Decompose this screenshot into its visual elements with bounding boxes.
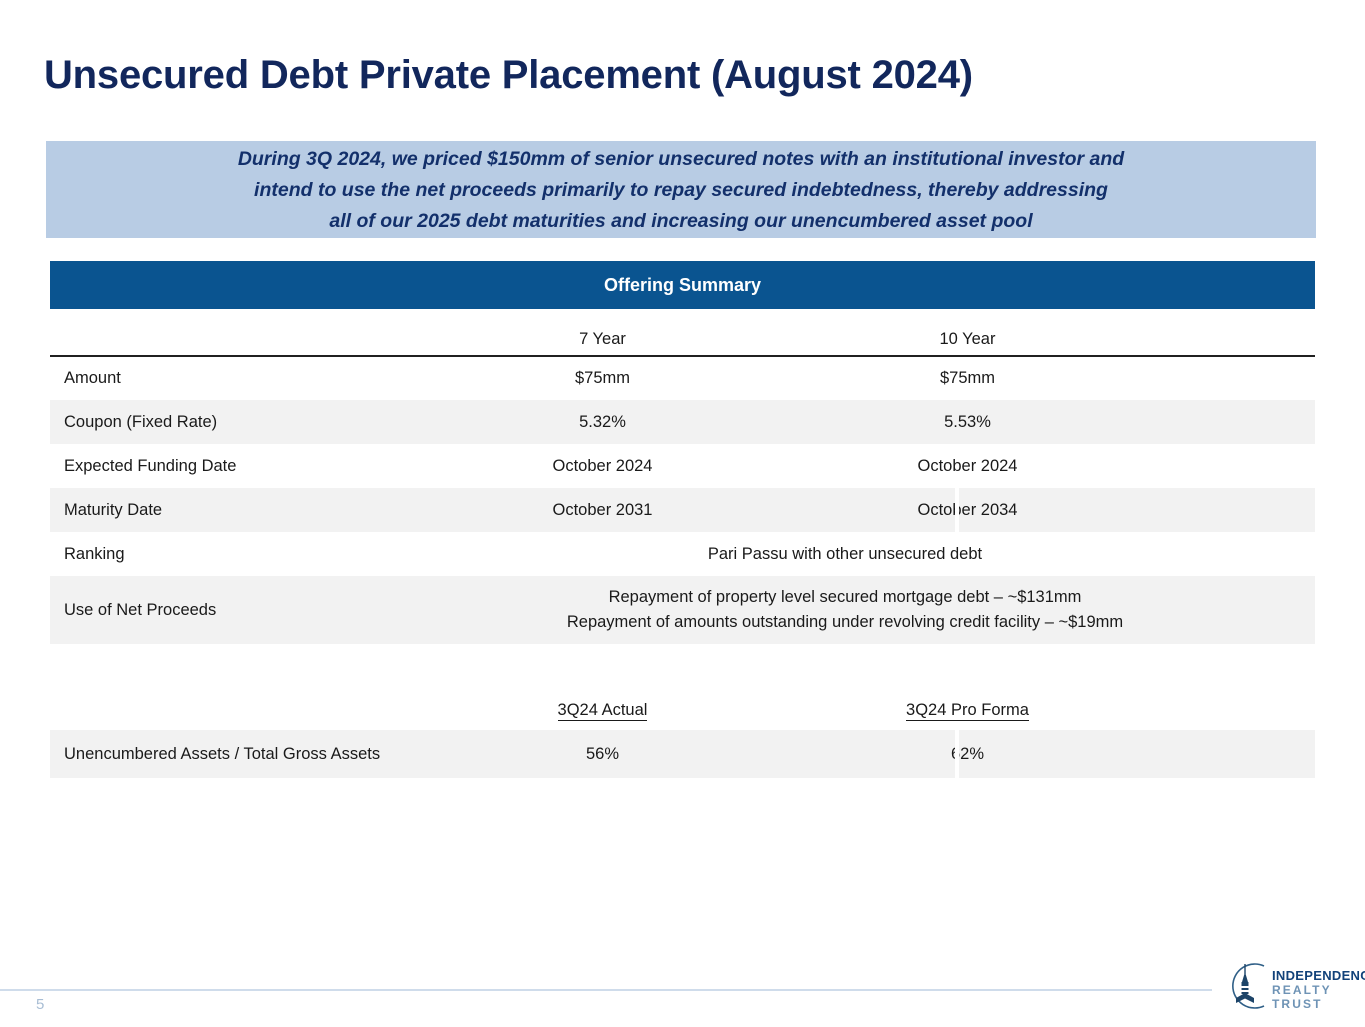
row-label: Use of Net Proceeds <box>50 601 385 620</box>
company-logo: INDEPENDENCE REALTY TRUST <box>1220 960 1350 1012</box>
row-value-10-year: October 2024 <box>785 457 1150 476</box>
table-row: Coupon (Fixed Rate) 5.32% 5.53% <box>50 400 1315 444</box>
logo-wordmark: INDEPENDENCE REALTY TRUST <box>1272 969 1365 1011</box>
column-divider <box>955 488 959 532</box>
row-label: Coupon (Fixed Rate) <box>50 413 385 432</box>
highlight-banner: During 3Q 2024, we priced $150mm of seni… <box>46 141 1316 238</box>
metrics-value-actual: 56% <box>420 745 785 764</box>
table-row: Ranking Pari Passu with other unsecured … <box>50 532 1315 576</box>
footer-divider <box>0 989 1212 991</box>
metrics-header-pro-forma-label: 3Q24 Pro Forma <box>906 701 1029 721</box>
offering-summary-table: 7 Year 10 Year Amount $75mm $75mm Coupon… <box>50 322 1315 644</box>
row-value-10-year: 5.53% <box>785 413 1150 432</box>
table-row: Expected Funding Date October 2024 Octob… <box>50 444 1315 488</box>
row-value-merged: Repayment of property level secured mort… <box>385 585 1315 635</box>
table-row: Use of Net Proceeds Repayment of propert… <box>50 576 1315 644</box>
row-label: Amount <box>50 369 385 388</box>
metrics-header-actual: 3Q24 Actual <box>420 701 785 720</box>
table-row: Maturity Date October 2031 October 2034 <box>50 488 1315 532</box>
offering-summary-header: Offering Summary <box>50 261 1315 309</box>
independence-tower-icon <box>1220 960 1270 1012</box>
row-label: Expected Funding Date <box>50 457 385 476</box>
row-value-10-year: $75mm <box>785 369 1150 388</box>
banner-line-1: During 3Q 2024, we priced $150mm of seni… <box>238 144 1124 175</box>
banner-line-3: all of our 2025 debt maturities and incr… <box>329 206 1032 237</box>
column-header-7-year: 7 Year <box>420 330 785 349</box>
proceeds-line-1: Repayment of property level secured mort… <box>385 585 1305 610</box>
table-top-rule <box>50 355 1315 357</box>
row-label: Maturity Date <box>50 501 385 520</box>
metrics-header-pro-forma: 3Q24 Pro Forma <box>785 701 1150 720</box>
logo-line-1: INDEPENDENCE <box>1272 969 1365 983</box>
page-title: Unsecured Debt Private Placement (August… <box>44 53 973 98</box>
row-value-7-year: October 2024 <box>420 457 785 476</box>
row-value-7-year: 5.32% <box>420 413 785 432</box>
row-value-10-year: October 2034 <box>785 501 1150 520</box>
metrics-row: Unencumbered Assets / Total Gross Assets… <box>50 730 1315 778</box>
proceeds-line-2: Repayment of amounts outstanding under r… <box>385 610 1305 635</box>
banner-line-2: intend to use the net proceeds primarily… <box>254 175 1108 206</box>
row-value-merged: Pari Passu with other unsecured debt <box>385 542 1315 567</box>
metrics-header-actual-label: 3Q24 Actual <box>558 701 648 721</box>
metrics-header-row: 3Q24 Actual 3Q24 Pro Forma <box>50 690 1315 730</box>
logo-line-2: REALTY TRUST <box>1272 983 1365 1011</box>
row-value-7-year: October 2031 <box>420 501 785 520</box>
page-number: 5 <box>36 996 44 1013</box>
slide: Unsecured Debt Private Placement (August… <box>0 0 1365 1027</box>
row-label: Ranking <box>50 545 385 564</box>
column-divider <box>955 730 959 778</box>
row-value-7-year: $75mm <box>420 369 785 388</box>
metrics-table: 3Q24 Actual 3Q24 Pro Forma Unencumbered … <box>50 690 1315 778</box>
metrics-value-pro-forma: 62% <box>785 745 1150 764</box>
metrics-row-label: Unencumbered Assets / Total Gross Assets <box>50 745 385 764</box>
table-row: Amount $75mm $75mm <box>50 356 1315 400</box>
column-header-10-year: 10 Year <box>785 330 1150 349</box>
table-header-row: 7 Year 10 Year <box>50 322 1315 356</box>
